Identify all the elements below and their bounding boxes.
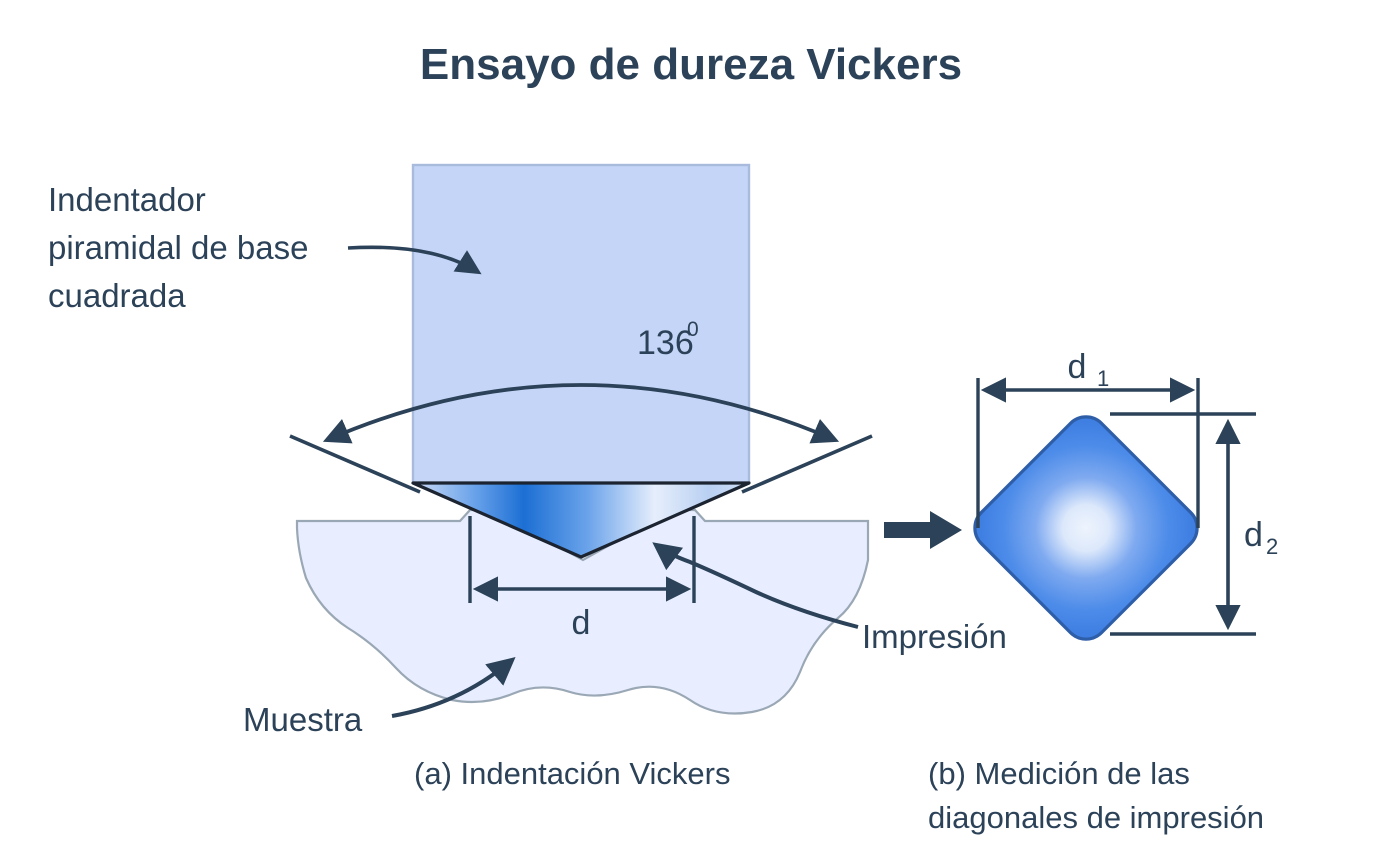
caption-a: (a) Indentación Vickers	[414, 756, 730, 791]
face-extension-right	[742, 436, 872, 492]
impression-diamond	[966, 408, 1206, 648]
d2-subscript: 2	[1266, 534, 1278, 559]
angle-unit: 0	[687, 318, 699, 341]
sample-label: Muestra	[243, 701, 363, 738]
captions-group: (a) Indentación Vickers (b) Medición de …	[414, 756, 1264, 835]
diagram-canvas: Ensayo de dureza Vickers 136 0 Indentado…	[0, 0, 1382, 858]
angle-value: 136	[637, 324, 694, 362]
d2-label: d	[1244, 516, 1263, 554]
right-arrow-icon	[884, 511, 962, 549]
caption-b-line1: (b) Medición de las	[928, 756, 1190, 791]
d1-label: d	[1068, 348, 1087, 386]
impression-diamond-group	[966, 408, 1206, 648]
d1-subscript: 1	[1097, 366, 1109, 391]
indenter-label-line3: cuadrada	[48, 277, 186, 314]
impression-label: Impresión	[862, 618, 1007, 655]
indenter-label-line1: Indentador	[48, 181, 206, 218]
page-title: Ensayo de dureza Vickers	[420, 40, 962, 89]
d-label: d	[572, 604, 591, 642]
indenter-group	[413, 165, 749, 557]
indenter-label-line2: piramidal de base	[48, 229, 309, 266]
face-extension-left	[290, 436, 420, 492]
vickers-hardness-diagram: Ensayo de dureza Vickers 136 0 Indentado…	[0, 0, 1382, 858]
caption-b-line2: diagonales de impresión	[928, 800, 1264, 835]
transition-arrow-group	[884, 511, 962, 549]
